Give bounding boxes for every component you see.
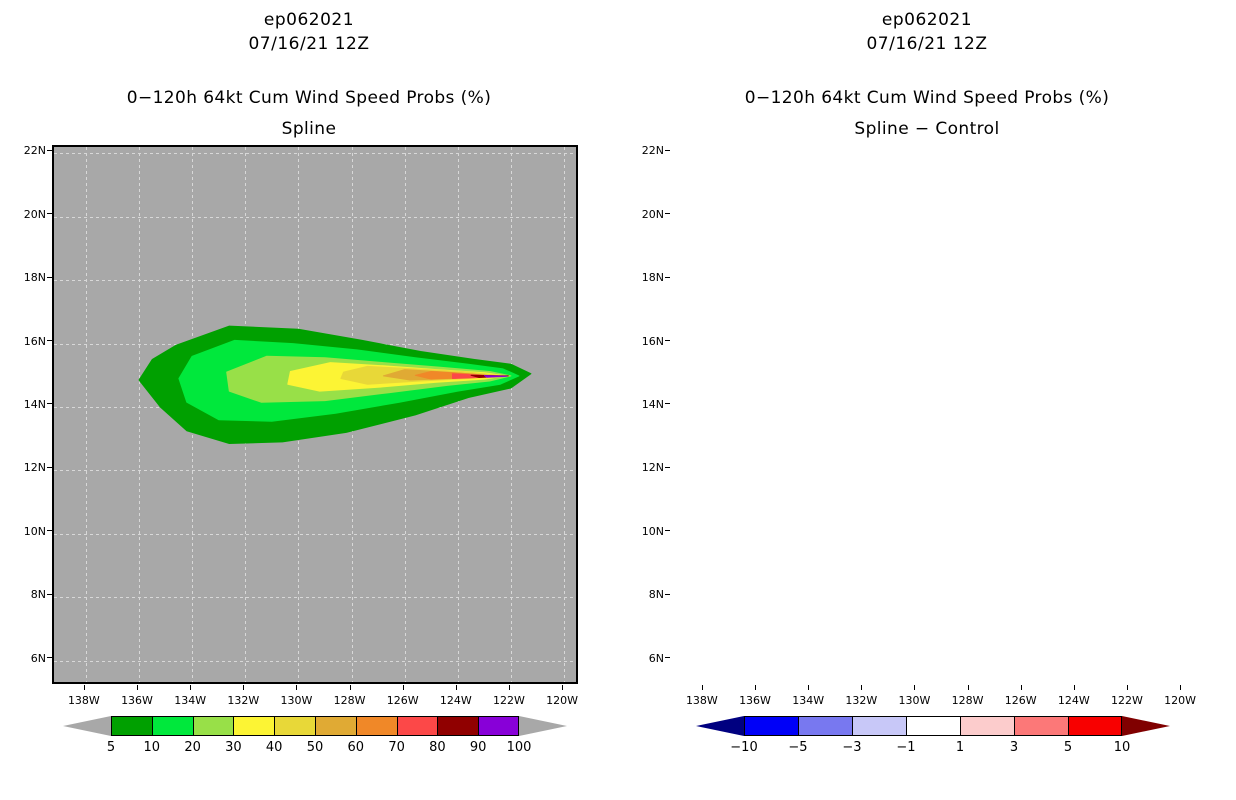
x-tick-mark <box>403 685 404 690</box>
storm-id-left: ep062021 <box>0 10 618 30</box>
y-tick-text: 16N <box>642 335 664 348</box>
colorbar-segment <box>233 716 274 736</box>
colorbar-low-cap <box>63 716 111 736</box>
x-axis-tick-label: 128W <box>320 694 380 707</box>
y-axis-tick-label: 22N <box>16 144 46 157</box>
x-tick-mark <box>914 685 915 690</box>
y-tick-mark <box>47 340 52 341</box>
colorbar-high-cap <box>1122 716 1170 736</box>
y-axis-tick-label: 6N <box>16 652 46 665</box>
colorbar-tick-label: 70 <box>377 740 417 755</box>
sub-title-left: Spline <box>0 119 618 139</box>
colorbar-low-cap <box>696 716 744 736</box>
x-axis-tick-label: 120W <box>1150 694 1210 707</box>
main-title-left: 0−120h 64kt Cum Wind Speed Probs (%) <box>0 88 618 108</box>
y-axis-tick-label: 18N <box>634 271 664 284</box>
x-tick-mark <box>456 685 457 690</box>
x-axis-tick-label: 134W <box>160 694 220 707</box>
x-tick-text: 120W <box>1164 694 1196 707</box>
colorbar-tick-label: 50 <box>295 740 335 755</box>
x-axis-tick-label: 124W <box>1044 694 1104 707</box>
storm-id-right: ep062021 <box>618 10 1236 30</box>
x-tick-mark <box>243 685 244 690</box>
sub-title-right: Spline − Control <box>618 119 1236 139</box>
x-axis-tick-label: 120W <box>532 694 592 707</box>
x-tick-mark <box>137 685 138 690</box>
x-tick-mark <box>350 685 351 690</box>
colorbar-segment <box>1068 716 1122 736</box>
y-tick-mark <box>665 467 670 468</box>
x-tick-text: 138W <box>686 694 718 707</box>
y-axis-tick-label: 14N <box>16 398 46 411</box>
x-axis-tick-label: 126W <box>373 694 433 707</box>
y-axis-tick-label: 16N <box>634 335 664 348</box>
y-axis-tick-label: 10N <box>634 525 664 538</box>
y-tick-mark <box>665 594 670 595</box>
colorbar-segment <box>437 716 478 736</box>
colorbar-tick-label: 1 <box>940 740 980 755</box>
colorbar-segment <box>315 716 356 736</box>
y-tick-mark <box>665 213 670 214</box>
colorbar-tick-label: −1 <box>886 740 926 755</box>
y-tick-text: 20N <box>24 208 46 221</box>
y-tick-mark <box>47 150 52 151</box>
y-tick-text: 10N <box>642 525 664 538</box>
colorbar-tick-label: −5 <box>778 740 818 755</box>
x-axis-tick-label: 124W <box>426 694 486 707</box>
panel-spline: ep062021 07/16/21 12Z 0−120h 64kt Cum Wi… <box>0 0 618 800</box>
x-tick-mark <box>755 685 756 690</box>
colorbar-segment <box>397 716 438 736</box>
difference-colorbar <box>744 716 1122 736</box>
y-axis-tick-label: 12N <box>16 461 46 474</box>
colorbar-tick-label: 100 <box>499 740 539 755</box>
y-tick-text: 22N <box>642 144 664 157</box>
x-tick-mark <box>190 685 191 690</box>
y-tick-mark <box>665 657 670 658</box>
y-axis-tick-label: 18N <box>16 271 46 284</box>
x-tick-text: 120W <box>546 694 578 707</box>
y-tick-mark <box>665 530 670 531</box>
y-axis-tick-label: 6N <box>634 652 664 665</box>
y-tick-mark <box>665 277 670 278</box>
y-tick-text: 10N <box>24 525 46 538</box>
y-tick-text: 6N <box>31 652 46 665</box>
colorbar-segment <box>960 716 1014 736</box>
main-title-right: 0−120h 64kt Cum Wind Speed Probs (%) <box>618 88 1236 108</box>
x-axis-tick-label: 132W <box>831 694 891 707</box>
x-tick-mark <box>702 685 703 690</box>
x-tick-text: 126W <box>387 694 419 707</box>
probability-map <box>52 145 578 684</box>
x-axis-tick-label: 134W <box>778 694 838 707</box>
colorbar-tick-label: 40 <box>254 740 294 755</box>
x-tick-text: 128W <box>952 694 984 707</box>
y-axis-tick-label: 14N <box>634 398 664 411</box>
y-tick-mark <box>665 403 670 404</box>
y-tick-text: 22N <box>24 144 46 157</box>
y-tick-text: 12N <box>642 461 664 474</box>
y-tick-mark <box>665 340 670 341</box>
y-tick-mark <box>47 213 52 214</box>
colorbar-tick-label: 5 <box>1048 740 1088 755</box>
x-axis-tick-label: 136W <box>725 694 785 707</box>
y-tick-mark <box>47 403 52 404</box>
colorbar-tick-label: 10 <box>132 740 172 755</box>
y-tick-text: 16N <box>24 335 46 348</box>
colorbar-tick-label: 10 <box>1102 740 1142 755</box>
colorbar-segment <box>852 716 906 736</box>
x-tick-mark <box>968 685 969 690</box>
colorbar-segment <box>798 716 852 736</box>
y-tick-mark <box>47 657 52 658</box>
y-tick-mark <box>47 277 52 278</box>
y-axis-tick-label: 8N <box>16 588 46 601</box>
x-tick-text: 138W <box>68 694 100 707</box>
colorbar-tick-label: 3 <box>994 740 1034 755</box>
colorbar-segment <box>152 716 193 736</box>
colorbar-tick-label: 5 <box>91 740 131 755</box>
probability-contours <box>54 147 578 684</box>
date-right: 07/16/21 12Z <box>618 34 1236 54</box>
x-tick-text: 136W <box>121 694 153 707</box>
date-left: 07/16/21 12Z <box>0 34 618 54</box>
x-tick-text: 132W <box>227 694 259 707</box>
colorbar-tick-label: 60 <box>336 740 376 755</box>
x-tick-text: 124W <box>1058 694 1090 707</box>
y-tick-mark <box>47 530 52 531</box>
y-tick-text: 14N <box>642 398 664 411</box>
x-tick-text: 128W <box>334 694 366 707</box>
x-tick-mark <box>509 685 510 690</box>
y-axis-tick-label: 20N <box>634 208 664 221</box>
colorbar-segment <box>478 716 519 736</box>
y-tick-mark <box>665 150 670 151</box>
colorbar-segment <box>193 716 234 736</box>
y-tick-mark <box>47 467 52 468</box>
x-axis-tick-label: 132W <box>213 694 273 707</box>
x-tick-text: 130W <box>280 694 312 707</box>
y-axis-tick-label: 10N <box>16 525 46 538</box>
x-axis-tick-label: 138W <box>54 694 114 707</box>
colorbar-segment <box>1014 716 1068 736</box>
y-axis-tick-label: 20N <box>16 208 46 221</box>
x-axis-tick-label: 122W <box>1097 694 1157 707</box>
x-tick-mark <box>296 685 297 690</box>
y-axis-tick-label: 8N <box>634 588 664 601</box>
x-tick-text: 124W <box>440 694 472 707</box>
y-tick-text: 6N <box>649 652 664 665</box>
x-axis-tick-label: 136W <box>107 694 167 707</box>
x-tick-text: 134W <box>174 694 206 707</box>
y-tick-text: 12N <box>24 461 46 474</box>
x-tick-mark <box>84 685 85 690</box>
colorbar-segment <box>744 716 798 736</box>
colorbar-high-cap <box>519 716 567 736</box>
y-tick-text: 8N <box>31 588 46 601</box>
colorbar-segment <box>274 716 315 736</box>
y-axis-tick-label: 22N <box>634 144 664 157</box>
x-axis-tick-label: 128W <box>938 694 998 707</box>
colorbar-tick-label: 80 <box>417 740 457 755</box>
y-tick-text: 20N <box>642 208 664 221</box>
x-axis-tick-label: 130W <box>884 694 944 707</box>
x-tick-text: 130W <box>898 694 930 707</box>
x-axis-tick-label: 122W <box>479 694 539 707</box>
x-tick-mark <box>1021 685 1022 690</box>
y-tick-text: 18N <box>24 271 46 284</box>
y-axis-tick-label: 12N <box>634 461 664 474</box>
colorbar-tick-label: −3 <box>832 740 872 755</box>
x-tick-text: 122W <box>1111 694 1143 707</box>
x-tick-text: 126W <box>1005 694 1037 707</box>
colorbar-tick-label: 20 <box>173 740 213 755</box>
x-axis-tick-label: 130W <box>266 694 326 707</box>
probability-colorbar <box>111 716 519 736</box>
colorbar-tick-label: −10 <box>724 740 764 755</box>
colorbar-tick-label: 90 <box>458 740 498 755</box>
x-tick-mark <box>1180 685 1181 690</box>
x-tick-text: 136W <box>739 694 771 707</box>
x-tick-text: 132W <box>845 694 877 707</box>
x-tick-mark <box>1074 685 1075 690</box>
x-tick-mark <box>808 685 809 690</box>
colorbar-tick-label: 30 <box>213 740 253 755</box>
colorbar-segment <box>906 716 960 736</box>
x-axis-tick-label: 126W <box>991 694 1051 707</box>
panel-spline-minus-control: ep062021 07/16/21 12Z 0−120h 64kt Cum Wi… <box>618 0 1236 800</box>
y-tick-text: 14N <box>24 398 46 411</box>
y-tick-text: 18N <box>642 271 664 284</box>
x-axis-tick-label: 138W <box>672 694 732 707</box>
x-tick-text: 122W <box>493 694 525 707</box>
y-tick-mark <box>47 594 52 595</box>
x-tick-mark <box>562 685 563 690</box>
x-tick-mark <box>1127 685 1128 690</box>
y-tick-text: 8N <box>649 588 664 601</box>
x-tick-text: 134W <box>792 694 824 707</box>
y-axis-tick-label: 16N <box>16 335 46 348</box>
x-tick-mark <box>861 685 862 690</box>
colorbar-segment <box>356 716 397 736</box>
colorbar-segment <box>111 716 152 736</box>
